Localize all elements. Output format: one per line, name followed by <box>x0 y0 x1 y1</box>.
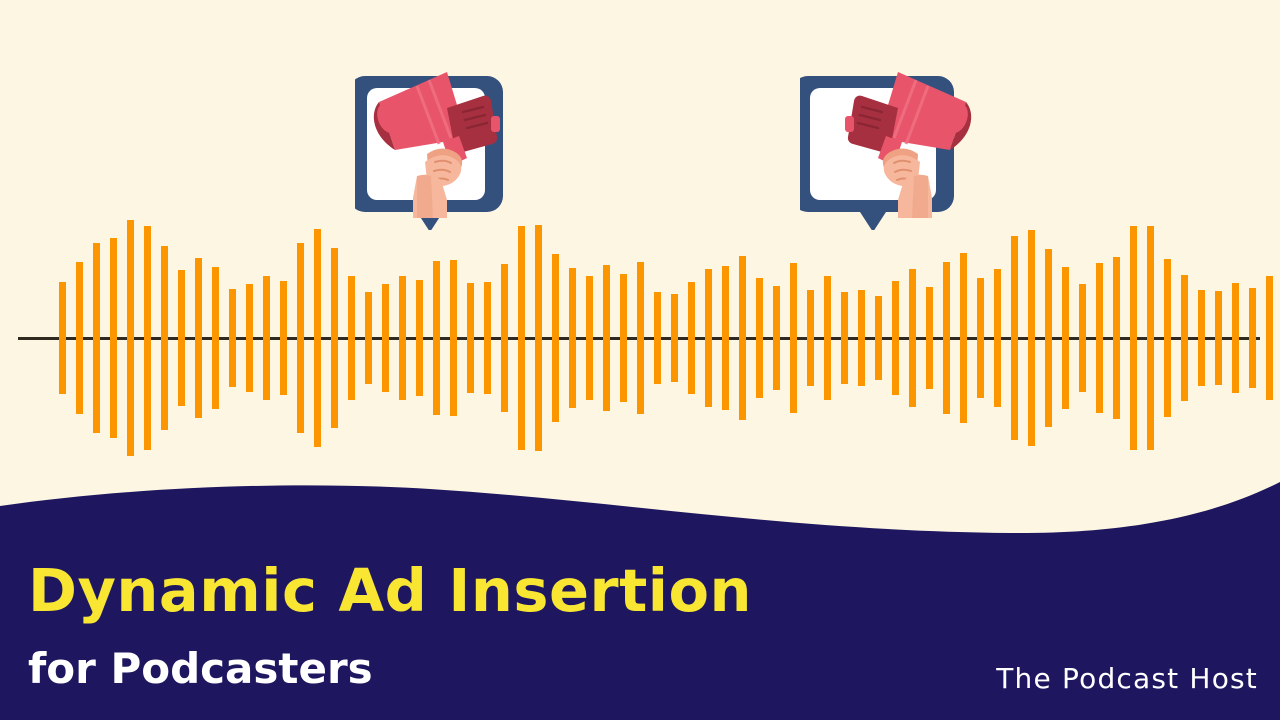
waveform-bar <box>348 276 355 400</box>
waveform-bar <box>382 284 389 392</box>
waveform-bar <box>637 262 644 414</box>
waveform-bar <box>178 270 185 406</box>
waveform-bar <box>603 265 610 411</box>
waveform-bar <box>59 282 66 394</box>
megaphone-bubble-right[interactable] <box>800 50 980 230</box>
waveform-bar <box>416 280 423 396</box>
waveform-bar <box>926 287 933 389</box>
page-subtitle: for Podcasters <box>28 648 373 690</box>
waveform-bar <box>875 296 882 380</box>
megaphone-bubble-right-graphic <box>800 50 980 230</box>
waveform-bar <box>1249 288 1256 388</box>
waveform-bar <box>1181 275 1188 401</box>
waveform-bar <box>1079 284 1086 392</box>
waveform-bar <box>518 226 525 450</box>
waveform-bar <box>1028 230 1035 446</box>
waveform-bar <box>807 290 814 386</box>
waveform-bar <box>773 286 780 390</box>
waveform-bar <box>331 248 338 428</box>
waveform-bar <box>1266 276 1273 400</box>
waveform-bar <box>909 269 916 407</box>
waveform-bar <box>790 263 797 413</box>
waveform-bar <box>1045 249 1052 427</box>
waveform-bar <box>671 294 678 382</box>
waveform-bar <box>841 292 848 384</box>
waveform-bar <box>195 258 202 418</box>
waveform-bar <box>399 276 406 400</box>
waveform-bar <box>1011 236 1018 440</box>
waveform-bar <box>705 269 712 407</box>
waveform-bar <box>1062 267 1069 409</box>
waveform-bar <box>960 253 967 423</box>
waveform-bar <box>1232 283 1239 393</box>
waveform-bar <box>144 226 151 450</box>
waveform-bar <box>1147 226 1154 450</box>
waveform-bar <box>858 290 865 386</box>
waveform-bar <box>1096 263 1103 413</box>
waveform-bar <box>1130 226 1137 450</box>
megaphone-bubble-left-graphic <box>355 50 515 230</box>
waveform-bar <box>450 260 457 416</box>
waveform-bar <box>127 220 134 456</box>
megaphone-bubble-left[interactable] <box>355 50 515 230</box>
waveform-bar <box>280 281 287 395</box>
waveform-bars <box>0 0 1280 480</box>
waveform-bar <box>977 278 984 398</box>
waveform-bar <box>246 284 253 392</box>
podcast-promo-banner: Dynamic Ad Insertion for Podcasters The … <box>0 0 1280 720</box>
waveform-bar <box>552 254 559 422</box>
waveform-bar <box>110 238 117 438</box>
waveform-bar <box>212 267 219 409</box>
waveform-bar <box>314 229 321 447</box>
waveform-bar <box>229 289 236 387</box>
waveform-bar <box>943 262 950 414</box>
waveform-bar <box>994 269 1001 407</box>
waveform-bar <box>467 283 474 393</box>
waveform-bar <box>161 246 168 430</box>
waveform-bar <box>824 276 831 400</box>
waveform-bar <box>586 276 593 400</box>
waveform-bar <box>756 278 763 398</box>
waveform-bar <box>535 225 542 451</box>
waveform-bar <box>484 282 491 394</box>
page-title: Dynamic Ad Insertion <box>28 560 752 622</box>
waveform-bar <box>501 264 508 412</box>
audio-waveform <box>0 0 1280 480</box>
waveform-bar <box>1113 257 1120 419</box>
waveform-bar <box>620 274 627 402</box>
waveform-bar <box>263 276 270 400</box>
waveform-bar <box>1198 290 1205 386</box>
waveform-bar <box>688 282 695 394</box>
waveform-bar <box>93 243 100 433</box>
waveform-bar <box>722 266 729 410</box>
waveform-bar <box>569 268 576 408</box>
waveform-bar <box>1164 259 1171 417</box>
waveform-bar <box>433 261 440 415</box>
waveform-bar <box>1215 291 1222 385</box>
waveform-bar <box>739 256 746 420</box>
waveform-bar <box>365 292 372 384</box>
waveform-bar <box>654 292 661 384</box>
waveform-bar <box>297 243 304 433</box>
waveform-bar <box>76 262 83 414</box>
waveform-bar <box>892 281 899 395</box>
brand-logo-text: The Podcast Host <box>996 662 1258 695</box>
